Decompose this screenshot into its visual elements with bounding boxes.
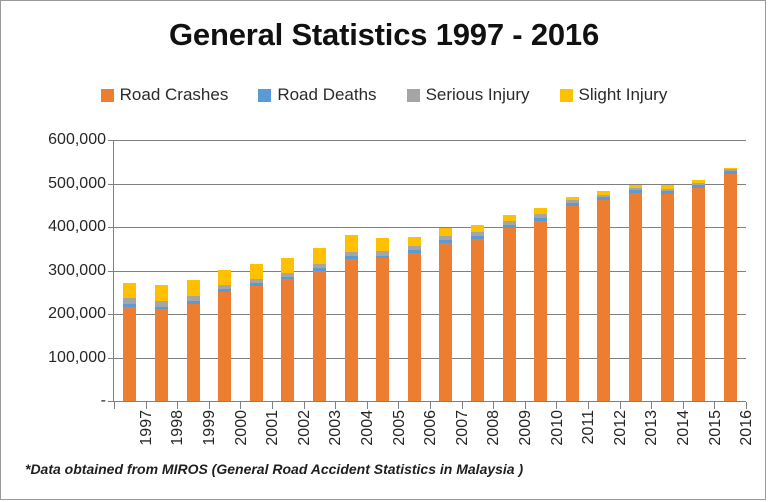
x-tick-2007 xyxy=(430,402,431,409)
legend-label: Slight Injury xyxy=(579,85,668,105)
x-tick-2004 xyxy=(335,402,336,409)
bar-column-2015[interactable] xyxy=(692,180,705,401)
plot-area xyxy=(114,140,746,401)
x-axis-label-1997: 1997 xyxy=(138,410,156,446)
x-axis-label-2002: 2002 xyxy=(296,410,314,446)
bar-column-1997[interactable] xyxy=(123,283,136,401)
bar-segment-road-crashes-2013[interactable] xyxy=(629,193,642,401)
y-tick-600000 xyxy=(108,140,114,141)
legend-label: Road Crashes xyxy=(120,85,229,105)
bar-segment-road-crashes-2000[interactable] xyxy=(218,292,231,401)
bar-column-2001[interactable] xyxy=(250,264,263,401)
bar-segment-slight-injury-2006[interactable] xyxy=(408,237,421,246)
legend-swatch-road-crashes xyxy=(101,89,114,102)
bar-column-2016[interactable] xyxy=(724,168,737,401)
bar-column-2002[interactable] xyxy=(281,258,294,401)
y-tick-200000 xyxy=(108,314,114,315)
x-axis-label-2014: 2014 xyxy=(675,410,693,446)
x-axis-label-2011: 2011 xyxy=(580,410,598,444)
x-tick-2002 xyxy=(272,402,273,409)
x-tick-2014 xyxy=(651,402,652,409)
x-axis-label-2015: 2015 xyxy=(707,410,725,446)
bar-column-2013[interactable] xyxy=(629,185,642,401)
bar-column-2005[interactable] xyxy=(376,238,389,401)
bar-segment-slight-injury-2007[interactable] xyxy=(439,228,452,236)
gridline-100000 xyxy=(114,358,746,359)
bar-segment-road-crashes-2004[interactable] xyxy=(345,259,358,401)
bar-column-2011[interactable] xyxy=(566,197,579,401)
bar-column-2000[interactable] xyxy=(218,270,231,401)
y-tick-300000 xyxy=(108,271,114,272)
x-tick-2010 xyxy=(525,402,526,409)
legend-swatch-road-deaths xyxy=(258,89,271,102)
x-axis-label-2005: 2005 xyxy=(391,410,409,446)
y-axis-label: 300,000 xyxy=(48,262,106,280)
x-axis-label-2001: 2001 xyxy=(264,410,282,446)
bar-segment-road-crashes-1997[interactable] xyxy=(123,307,136,401)
bar-segment-slight-injury-1999[interactable] xyxy=(187,280,200,296)
bar-segment-road-crashes-2012[interactable] xyxy=(597,200,610,401)
x-tick-2001 xyxy=(240,402,241,409)
x-tick-end xyxy=(746,402,747,409)
x-tick-1999 xyxy=(177,402,178,409)
x-axis-label-2000: 2000 xyxy=(233,410,251,446)
bar-column-2010[interactable] xyxy=(534,208,547,401)
gridline-600000 xyxy=(114,140,746,141)
x-tick-1997 xyxy=(114,402,115,409)
bar-segment-road-crashes-1999[interactable] xyxy=(187,304,200,401)
x-tick-2009 xyxy=(493,402,494,409)
x-axis-label-2010: 2010 xyxy=(549,410,567,446)
x-axis-label-1998: 1998 xyxy=(169,410,187,446)
bar-column-2003[interactable] xyxy=(313,248,326,401)
legend-item-slight-injury[interactable]: Slight Injury xyxy=(560,85,668,105)
x-tick-2003 xyxy=(304,402,305,409)
bar-segment-road-crashes-2015[interactable] xyxy=(692,188,705,401)
x-tick-2008 xyxy=(462,402,463,409)
bar-segment-road-crashes-2007[interactable] xyxy=(439,243,452,401)
gridline-500000 xyxy=(114,184,746,185)
chart-canvas: General Statistics 1997 - 2016 Road Cras… xyxy=(0,0,766,500)
legend-item-serious-injury[interactable]: Serious Injury xyxy=(407,85,530,105)
bar-column-2008[interactable] xyxy=(471,225,484,401)
bar-segment-slight-injury-2001[interactable] xyxy=(250,264,263,280)
y-axis-label: 400,000 xyxy=(48,218,106,236)
x-axis-label-2008: 2008 xyxy=(485,410,503,446)
x-tick-2006 xyxy=(398,402,399,409)
x-axis-label-2013: 2013 xyxy=(643,410,661,446)
bar-column-2014[interactable] xyxy=(661,185,674,401)
x-axis-label-2016: 2016 xyxy=(738,410,756,446)
y-axis-label: 100,000 xyxy=(48,349,106,367)
bar-segment-road-crashes-2009[interactable] xyxy=(503,228,516,401)
legend-swatch-slight-injury xyxy=(560,89,573,102)
chart-footnote: *Data obtained from MIROS (General Road … xyxy=(25,461,523,477)
legend-label: Serious Injury xyxy=(426,85,530,105)
bar-segment-road-crashes-2006[interactable] xyxy=(408,253,421,401)
legend-item-road-deaths[interactable]: Road Deaths xyxy=(258,85,376,105)
bar-column-2012[interactable] xyxy=(597,191,610,401)
bar-segment-road-crashes-1998[interactable] xyxy=(155,309,168,401)
chart-title: General Statistics 1997 - 2016 xyxy=(1,17,766,53)
y-axis-labels: -100,000200,000300,000400,000500,000600,… xyxy=(1,140,106,401)
x-axis-label-1999: 1999 xyxy=(201,410,219,446)
bar-column-1998[interactable] xyxy=(155,285,168,401)
y-tick-100000 xyxy=(108,358,114,359)
bar-segment-slight-injury-2004[interactable] xyxy=(345,235,358,252)
bar-segment-slight-injury-2009[interactable] xyxy=(503,215,516,222)
x-tick-2005 xyxy=(367,402,368,409)
x-axis-label-2004: 2004 xyxy=(359,410,377,446)
y-axis-label: - xyxy=(101,392,106,410)
y-tick-500000 xyxy=(108,184,114,185)
bar-segment-slight-injury-2003[interactable] xyxy=(313,248,326,264)
x-tick-2016 xyxy=(714,402,715,409)
bar-column-2007[interactable] xyxy=(439,228,452,401)
x-tick-1998 xyxy=(146,402,147,409)
bar-segment-slight-injury-2000[interactable] xyxy=(218,270,231,286)
legend-swatch-serious-injury xyxy=(407,89,420,102)
bar-column-2009[interactable] xyxy=(503,215,516,401)
gridline-400000 xyxy=(114,227,746,228)
legend-label: Road Deaths xyxy=(277,85,376,105)
bar-segment-slight-injury-2002[interactable] xyxy=(281,258,294,273)
x-tick-2012 xyxy=(588,402,589,409)
x-tick-2011 xyxy=(556,402,557,409)
bar-segment-road-crashes-2005[interactable] xyxy=(376,258,389,401)
bar-segment-slight-injury-1998[interactable] xyxy=(155,285,168,302)
bar-column-2006[interactable] xyxy=(408,237,421,401)
bar-segment-slight-injury-2005[interactable] xyxy=(376,238,389,252)
bar-segment-road-crashes-2002[interactable] xyxy=(281,279,294,401)
bar-column-2004[interactable] xyxy=(345,235,358,401)
x-axis-label-2009: 2009 xyxy=(517,410,535,446)
x-axis-label-2003: 2003 xyxy=(327,410,345,446)
chart-legend: Road CrashesRoad DeathsSerious InjurySli… xyxy=(1,85,766,105)
x-tick-2013 xyxy=(620,402,621,409)
bar-column-1999[interactable] xyxy=(187,280,200,401)
bar-segment-road-crashes-2001[interactable] xyxy=(250,286,263,401)
x-tick-2015 xyxy=(683,402,684,409)
y-axis-label: 500,000 xyxy=(48,175,106,193)
bar-segment-road-crashes-2016[interactable] xyxy=(724,174,737,401)
gridline-200000 xyxy=(114,314,746,315)
bar-segment-road-crashes-2008[interactable] xyxy=(471,239,484,401)
bar-segment-road-crashes-2014[interactable] xyxy=(661,194,674,401)
bar-segment-road-crashes-2003[interactable] xyxy=(313,271,326,401)
x-axis-label-2006: 2006 xyxy=(422,410,440,446)
y-tick-400000 xyxy=(108,227,114,228)
bar-segment-slight-injury-2008[interactable] xyxy=(471,225,484,232)
x-axis-label-2012: 2012 xyxy=(612,410,630,446)
legend-item-road-crashes[interactable]: Road Crashes xyxy=(101,85,229,105)
gridline-300000 xyxy=(114,271,746,272)
bar-segment-slight-injury-1997[interactable] xyxy=(123,283,136,299)
x-tick-2000 xyxy=(209,402,210,409)
x-axis-label-2007: 2007 xyxy=(454,410,472,446)
y-axis-label: 200,000 xyxy=(48,305,106,323)
bar-segment-road-crashes-2011[interactable] xyxy=(566,206,579,401)
y-axis-label: 600,000 xyxy=(48,131,106,149)
bar-segment-road-crashes-2010[interactable] xyxy=(534,221,547,401)
